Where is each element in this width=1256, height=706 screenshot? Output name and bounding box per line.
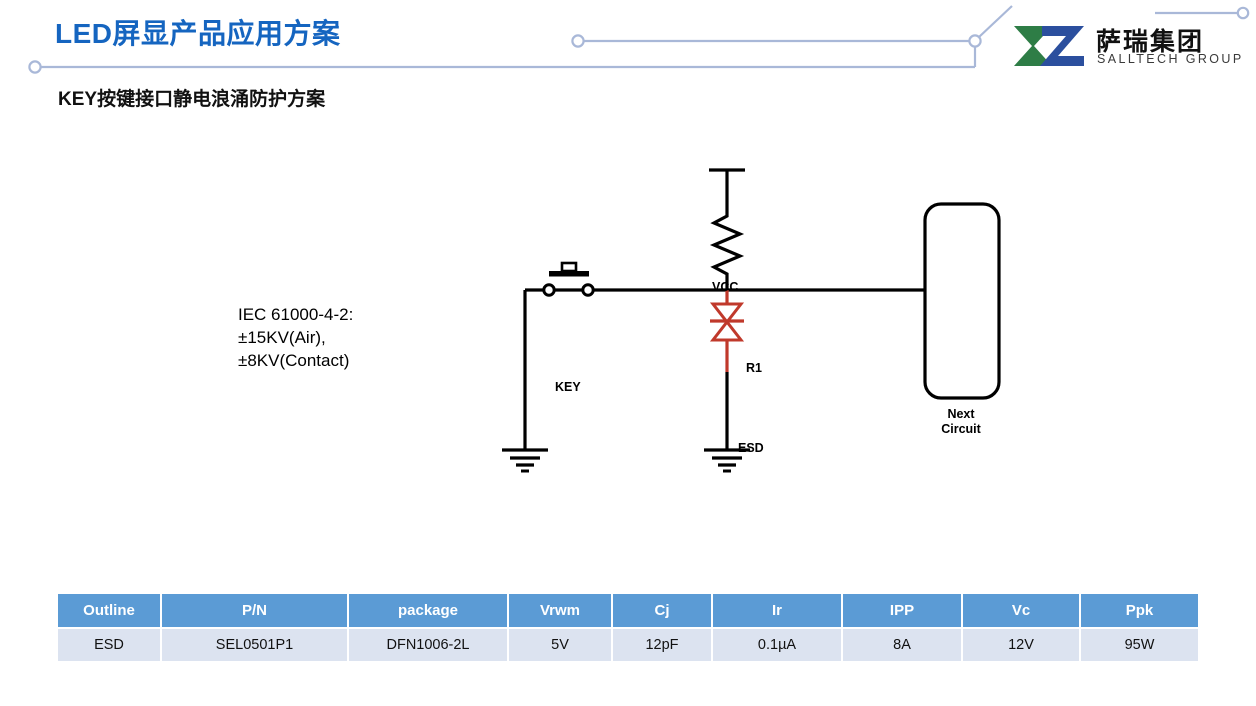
next-circuit-block — [925, 204, 999, 398]
label-next-circuit-line-2: Circuit — [941, 422, 981, 436]
key-terminal-left — [544, 285, 554, 295]
deco-node-middle — [572, 35, 583, 46]
label-vcc: VCC — [712, 280, 738, 294]
table-cell: 5V — [508, 628, 612, 661]
table-row: ESD SEL0501P1 DFN1006-2L 5V 12pF 0.1µA 8… — [58, 628, 1198, 661]
table-cell: ESD — [58, 628, 161, 661]
key-terminal-right — [583, 285, 593, 295]
circuit-schematic: VCC R1 KEY ESD GND GND Next Circuit — [0, 130, 1256, 510]
header-band: LED屏显产品应用方案 萨瑞集团 SALLTECH GROUP — [0, 0, 1256, 80]
table-cell: 8A — [842, 628, 962, 661]
table-cell: 95W — [1080, 628, 1198, 661]
table-header-cell: Ir — [712, 594, 842, 628]
table-cell: 0.1µA — [712, 628, 842, 661]
table-cell: 12V — [962, 628, 1080, 661]
table-header-row: Outline P/N package Vrwm Cj Ir IPP Vc Pp… — [58, 594, 1198, 628]
resistor-r1-symbol — [714, 210, 740, 282]
table-cell: 12pF — [612, 628, 712, 661]
table-cell: SEL0501P1 — [161, 628, 348, 661]
table-cell: DFN1006-2L — [348, 628, 508, 661]
deco-node-left — [29, 61, 40, 72]
label-key: KEY — [555, 380, 581, 394]
deco-node-right — [969, 35, 980, 46]
table-header-cell: P/N — [161, 594, 348, 628]
key-plunger-cap — [562, 263, 576, 271]
section-subtitle: KEY按键接口静电浪涌防护方案 — [58, 84, 325, 111]
part-spec-table: Outline P/N package Vrwm Cj Ir IPP Vc Pp… — [58, 594, 1198, 661]
label-r1: R1 — [746, 361, 762, 375]
table-header-cell: Vc — [962, 594, 1080, 628]
table-header-cell: Cj — [612, 594, 712, 628]
deco-node-right-top — [1238, 8, 1248, 18]
label-esd: ESD — [738, 441, 764, 455]
logo-english-name: SALLTECH GROUP — [1097, 52, 1244, 66]
label-next-circuit: Next Circuit — [928, 407, 994, 437]
label-next-circuit-line-1: Next — [947, 407, 974, 421]
table-header-cell: Ppk — [1080, 594, 1198, 628]
table-header-cell: Outline — [58, 594, 161, 628]
brand-logo: 萨瑞集团 SALLTECH GROUP — [1012, 22, 1248, 74]
salltech-sl-logo-mark — [1012, 24, 1086, 68]
circuit-schematic-drawing — [0, 130, 1256, 510]
table-header-cell: IPP — [842, 594, 962, 628]
table-header-cell: package — [348, 594, 508, 628]
esd-diode-triangle-upper — [713, 304, 741, 322]
esd-diode-triangle-lower — [713, 322, 741, 340]
page-title: LED屏显产品应用方案 — [55, 12, 341, 52]
table-header-cell: Vrwm — [508, 594, 612, 628]
